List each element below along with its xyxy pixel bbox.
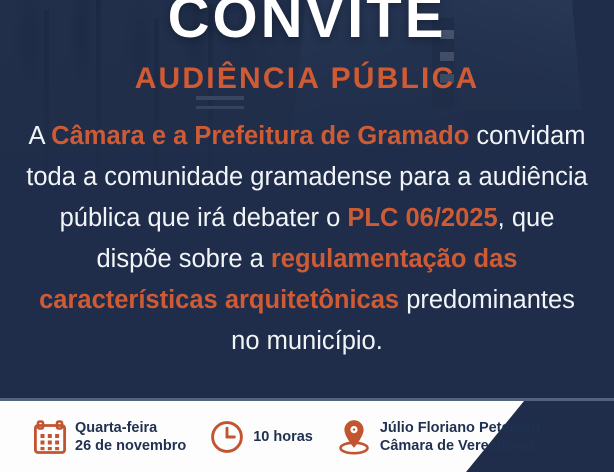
invitation-paragraph: A Câmara e a Prefeitura de Gramado convi… (26, 116, 588, 362)
page-subtitle: AUDIÊNCIA PÚBLICA (0, 62, 614, 96)
calendar-icon (34, 420, 66, 454)
body-text-plain: A (28, 122, 51, 150)
clock-icon (210, 420, 244, 454)
map-pin-icon (337, 418, 371, 456)
body-text-highlight: regulamentação (271, 245, 467, 273)
page-title: CONVITE (0, 0, 614, 49)
body-text-highlight: 06/2025 (405, 204, 497, 232)
footer-time-text: 10 horas (253, 428, 313, 446)
footer-date-weekday: Quarta-feira (75, 420, 157, 436)
footer-item-location: Júlio Floriano Petersen Câmara de Veread… (337, 418, 540, 456)
footer-item-date: Quarta-feira 26 de novembro (34, 419, 186, 455)
footer-time-value: 10 horas (253, 429, 313, 445)
footer-details: Quarta-feira 26 de novembro 10 horas (0, 401, 614, 472)
body-text-highlight: Câmara e a Prefeitura de Gramado (51, 122, 469, 150)
poster-content: CONVITE AUDIÊNCIA PÚBLICA A Câmara e a P… (0, 0, 614, 401)
footer-date-day: 26 de novembro (75, 437, 186, 455)
footer-location-venue: Câmara de Vereadores (380, 437, 540, 455)
invitation-poster: CONVITE AUDIÊNCIA PÚBLICA A Câmara e a P… (0, 0, 614, 472)
footer-date-text: Quarta-feira 26 de novembro (75, 419, 186, 455)
footer-item-time: 10 horas (210, 420, 313, 454)
body-text-highlight: PLC (347, 204, 398, 232)
footer-location-name: Júlio Floriano Petersen (380, 420, 540, 436)
footer-location-text: Júlio Floriano Petersen Câmara de Veread… (380, 419, 540, 455)
